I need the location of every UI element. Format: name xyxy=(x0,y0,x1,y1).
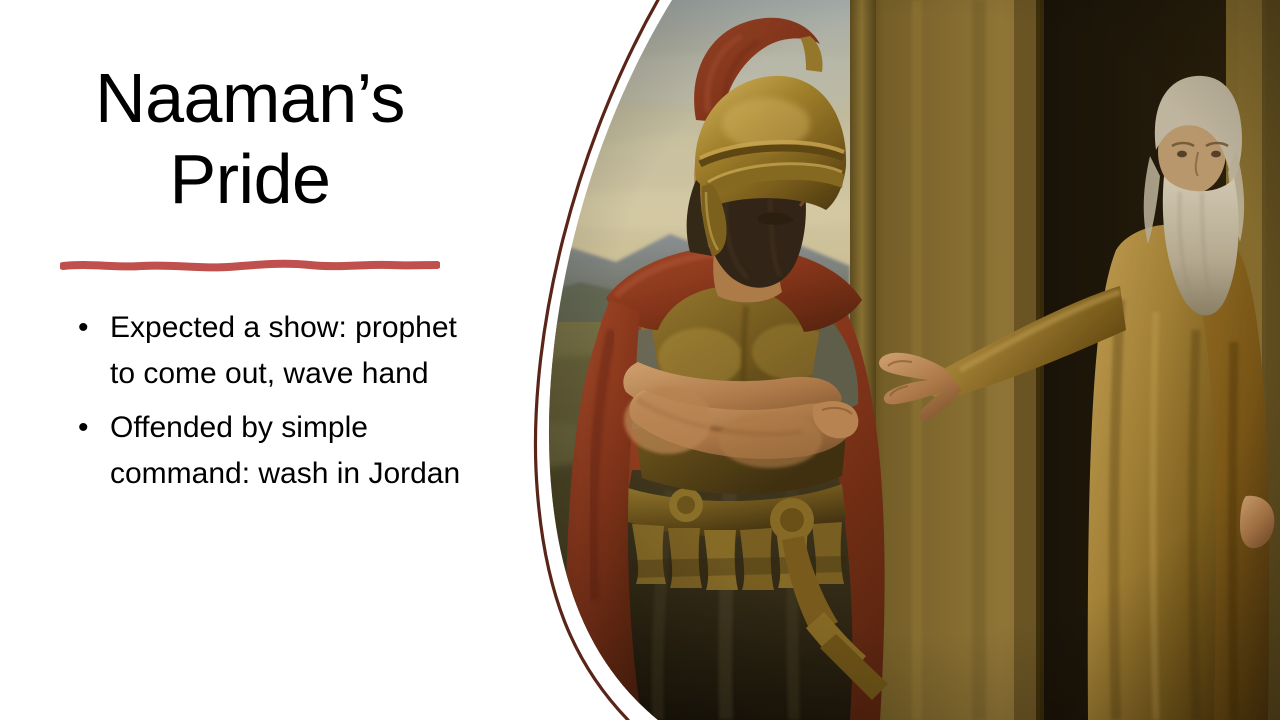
naaman-and-elisha-painting-image xyxy=(520,0,1280,720)
presentation-slide: Naaman’s Pride • Expected a show: prophe… xyxy=(0,0,1280,720)
list-item: • Expected a show: prophet to come out, … xyxy=(62,305,482,397)
bullet-point-icon: • xyxy=(78,305,89,351)
wavy-rule-icon xyxy=(60,256,440,274)
bullet-list: • Expected a show: prophet to come out, … xyxy=(62,305,482,497)
painting-canvas xyxy=(520,0,1280,720)
slide-title: Naaman’s Pride xyxy=(40,58,460,220)
slide-text-column: Naaman’s Pride • Expected a show: prophe… xyxy=(0,0,540,720)
vignette xyxy=(520,0,1280,720)
list-item: • Offended by simple command: wash in Jo… xyxy=(62,405,482,497)
list-item-text: Expected a show: prophet to come out, wa… xyxy=(110,311,457,390)
title-underline-rule xyxy=(60,256,440,274)
slide-picture xyxy=(520,0,1280,720)
bullet-point-icon: • xyxy=(78,405,89,451)
list-item-text: Offended by simple command: wash in Jord… xyxy=(110,411,460,490)
